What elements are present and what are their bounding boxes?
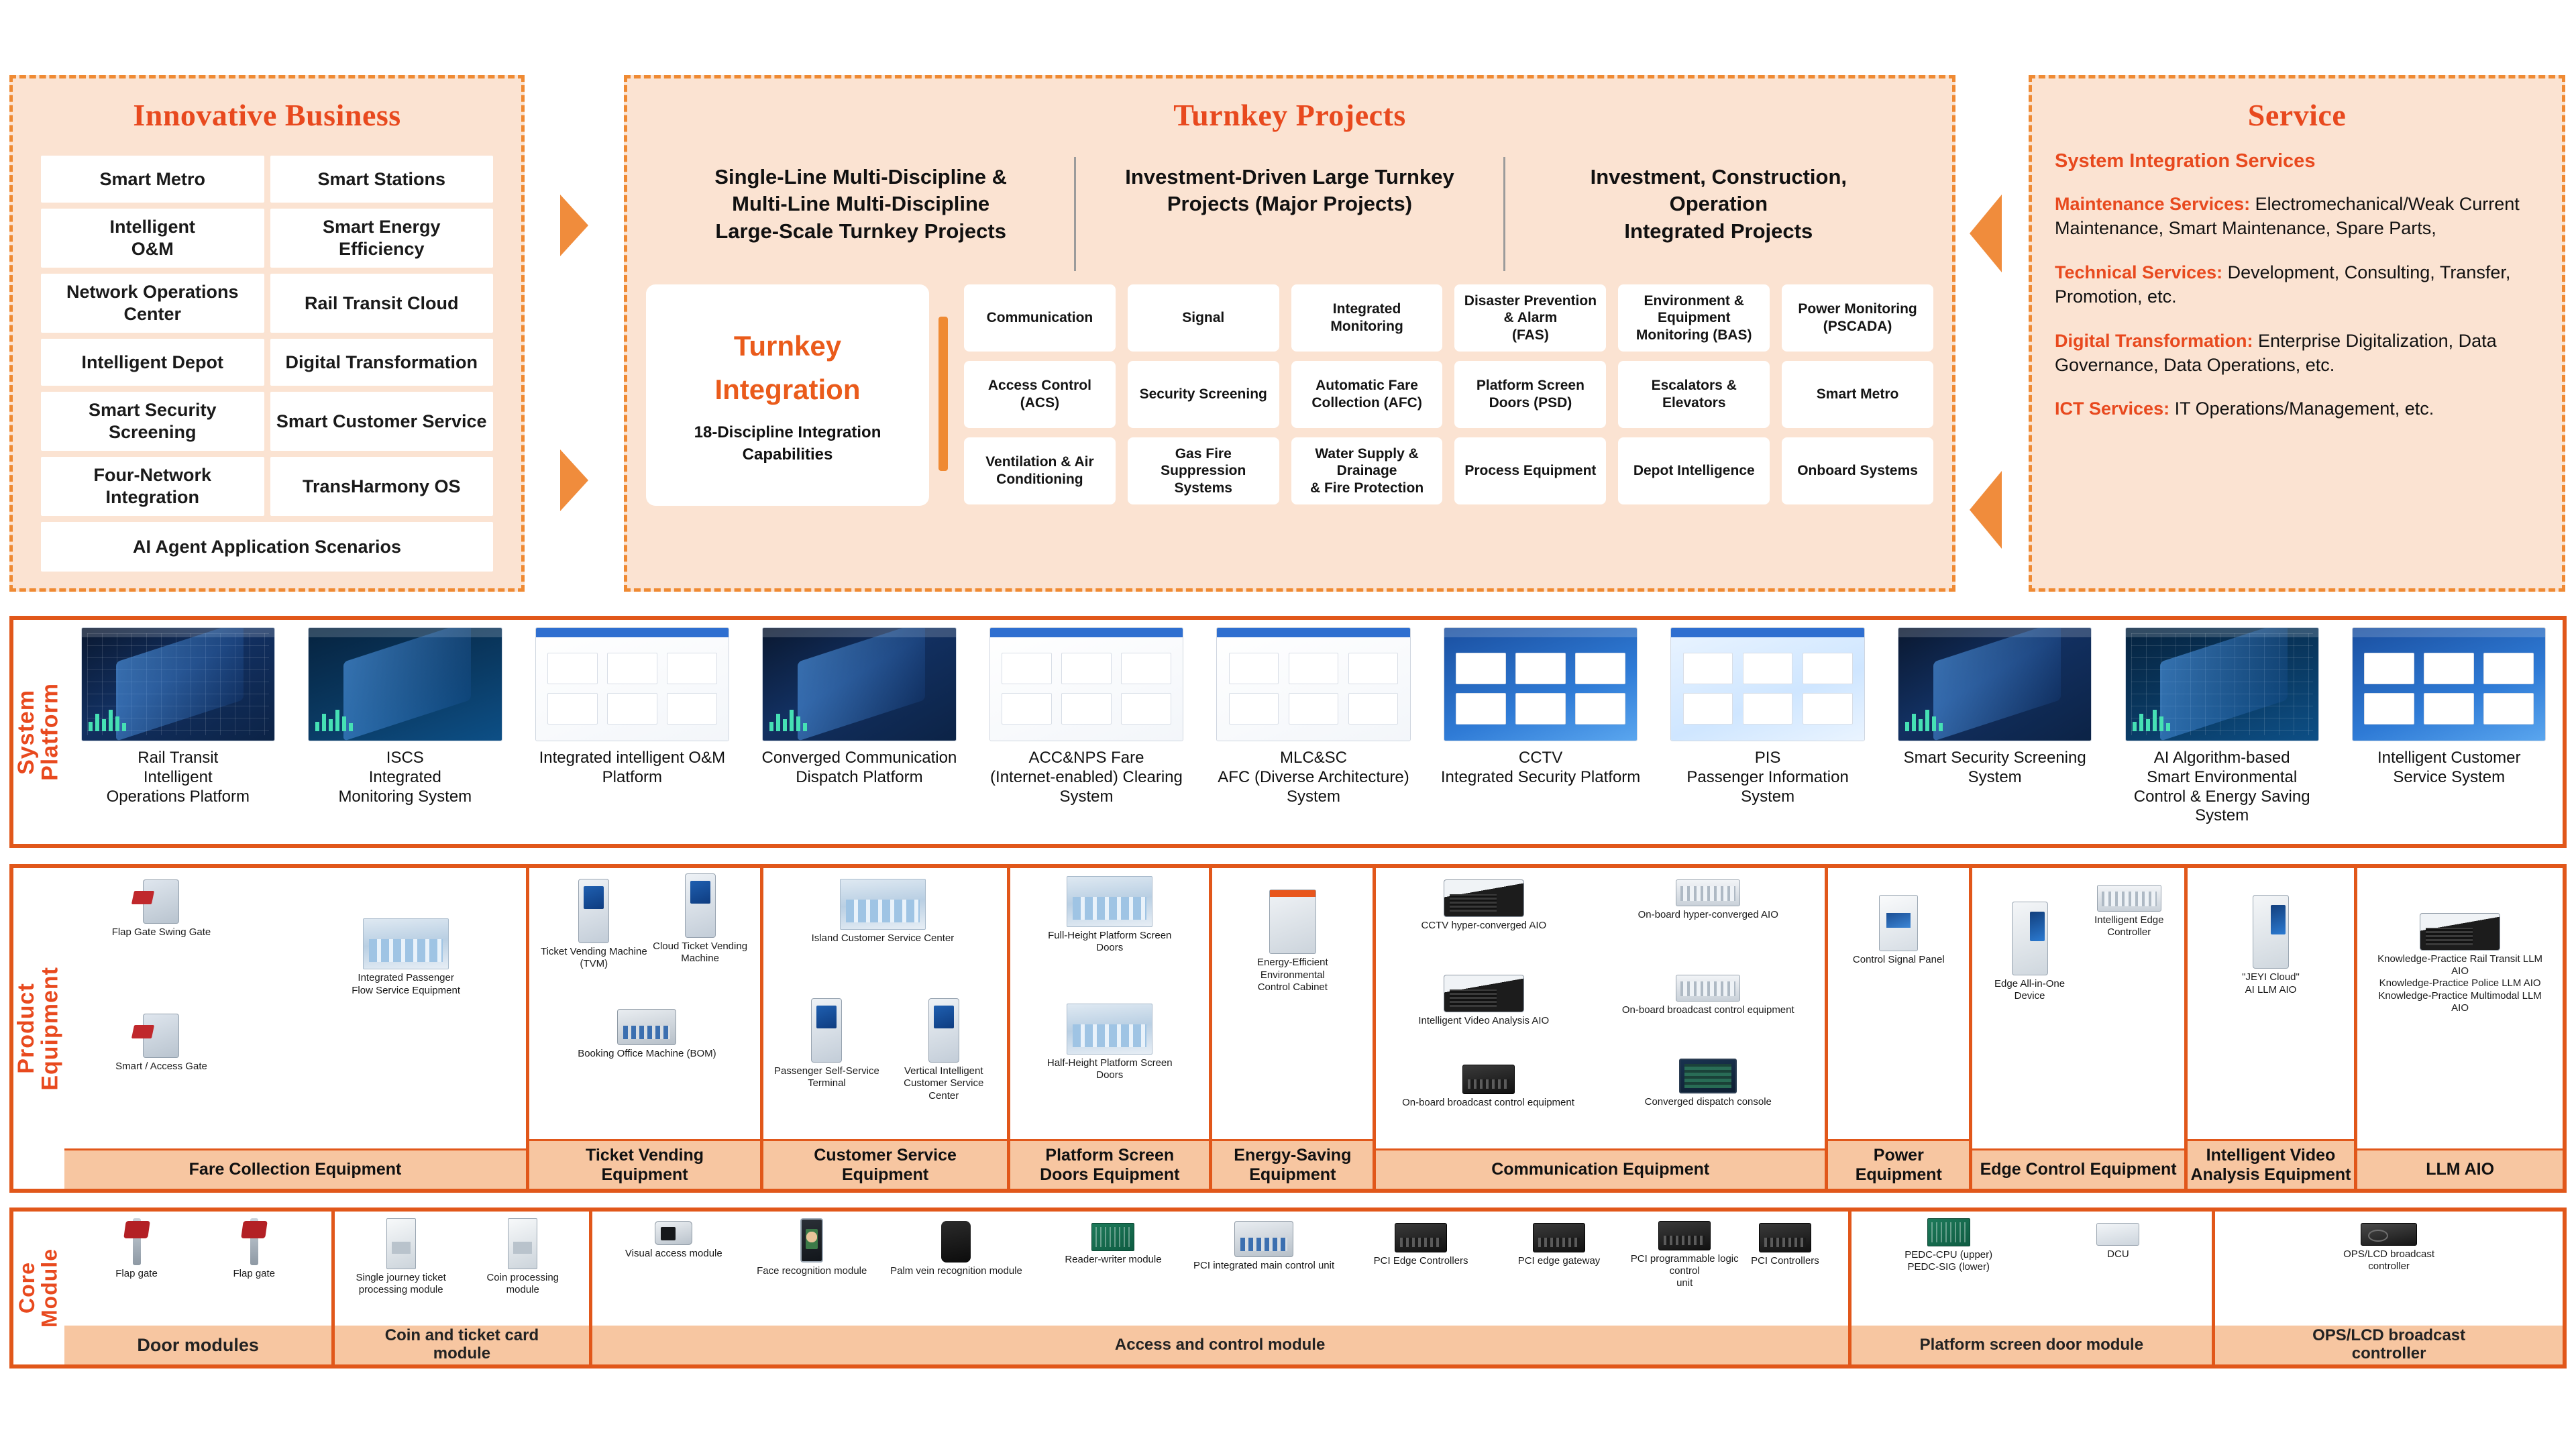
turnkey-body: Turnkey Integration 18-Discipline Integr… bbox=[646, 284, 1933, 506]
product-group-body: Full-Height Platform ScreenDoorsHalf-Hei… bbox=[1010, 868, 1209, 1139]
product-item-0-0[interactable]: Flap Gate Swing Gate bbox=[83, 879, 240, 938]
product-item-5-3[interactable]: On-board broadcast control equipment bbox=[1601, 975, 1816, 1016]
service-item-key: Maintenance Services: bbox=[2055, 194, 2250, 214]
product-item-caption: Energy-Efficient EnvironmentalControl Ca… bbox=[1226, 957, 1360, 994]
product-image bbox=[1676, 975, 1740, 1002]
product-group-footer[interactable]: Fare Collection Equipment bbox=[64, 1148, 526, 1189]
discipline-cell-17[interactable]: Onboard Systems bbox=[1782, 437, 1933, 504]
service-panel: Service System Integration Services Main… bbox=[2029, 75, 2565, 592]
system-platform-caption: MLC&SCAFC (Diverse Architecture)System bbox=[1218, 749, 1409, 806]
core-item-caption: DCU bbox=[2039, 1248, 2198, 1260]
core-item-image bbox=[655, 1221, 692, 1245]
product-item-caption: CCTV hyper-converged AIO bbox=[1394, 920, 1574, 932]
product-group-footer[interactable]: Communication Equipment bbox=[1376, 1148, 1825, 1189]
innovative-item-1[interactable]: Smart Stations bbox=[270, 156, 494, 203]
service-body: System Integration Services Maintenance … bbox=[2032, 133, 2562, 421]
thumbnail-3d-beam bbox=[1933, 628, 2061, 741]
innovative-item-6[interactable]: Intelligent Depot bbox=[41, 339, 264, 386]
discipline-cell-15[interactable]: Process Equipment bbox=[1454, 437, 1606, 504]
thumbnail-card bbox=[1002, 693, 1052, 724]
system-platform-item-1[interactable]: ISCSIntegratedMonitoring System bbox=[292, 620, 519, 844]
product-image bbox=[143, 879, 179, 924]
product-item-3-1[interactable]: Half-Height Platform ScreenDoors bbox=[1030, 1004, 1189, 1082]
platform-thumbnail bbox=[536, 628, 729, 741]
system-platform-items: Rail TransitIntelligentOperations Platfo… bbox=[64, 620, 2563, 844]
thumbnail-card bbox=[2364, 693, 2414, 724]
discipline-cell-4[interactable]: Environment &EquipmentMonitoring (BAS) bbox=[1618, 284, 1770, 352]
product-group-6: Control Signal PanelPowerEquipment bbox=[1825, 868, 1969, 1189]
product-item-caption: Booking Office Machine (BOM) bbox=[566, 1048, 728, 1060]
product-item-6-0[interactable]: Control Signal Panel bbox=[1845, 895, 1952, 966]
core-item-0-1[interactable]: Flap gate bbox=[203, 1218, 305, 1280]
system-platform-item-7[interactable]: PISPassenger InformationSystem bbox=[1654, 620, 1882, 844]
product-group-body: Knowledge-Practice Rail Transit LLM AIOK… bbox=[2357, 868, 2563, 1148]
product-image bbox=[840, 879, 926, 930]
product-group-footer[interactable]: LLM AIO bbox=[2357, 1148, 2563, 1189]
thumbnail-card bbox=[2364, 653, 2414, 684]
system-platform-caption: ACC&NPS Fare(Internet-enabled) ClearingS… bbox=[990, 749, 1183, 806]
core-module-label: CoreModule bbox=[13, 1212, 64, 1364]
product-image bbox=[1676, 879, 1740, 906]
core-item-3-0[interactable]: PEDC-CPU (upper)PEDC-SIG (lower) bbox=[1873, 1218, 2025, 1274]
product-item-caption: On-board hyper-converged AIO bbox=[1609, 909, 1807, 921]
product-group-body: Flap Gate Swing GateSmart / Access GateI… bbox=[64, 868, 526, 1148]
core-item-caption: Coin processingmodule bbox=[467, 1272, 578, 1297]
discipline-cell-16[interactable]: Depot Intelligence bbox=[1618, 437, 1770, 504]
product-image bbox=[811, 998, 842, 1063]
thumbnail-card bbox=[1061, 653, 1112, 684]
platform-thumbnail bbox=[82, 628, 274, 741]
platform-thumbnail bbox=[309, 628, 501, 741]
core-item-image bbox=[1658, 1221, 1711, 1250]
product-item-caption: Full-Height Platform ScreenDoors bbox=[1030, 930, 1189, 955]
thumbnail-header-bar bbox=[536, 628, 729, 637]
core-item-caption: Face recognition module bbox=[743, 1265, 881, 1277]
chevron-right-icon-bottom bbox=[560, 449, 588, 511]
thumbnail-header-bar bbox=[1898, 628, 2091, 637]
product-item-0-2[interactable]: Integrated PassengerFlow Service Equipme… bbox=[305, 918, 508, 997]
turnkey-projects-panel: Turnkey Projects Single-Line Multi-Disci… bbox=[624, 75, 1955, 592]
product-group-footer[interactable]: Platform ScreenDoors Equipment bbox=[1010, 1139, 1209, 1189]
product-group-body: Edge All-in-One DeviceIntelligent Edge C… bbox=[1972, 868, 2184, 1148]
core-module-groups: Flap gateFlap gateDoor modulesSingle jou… bbox=[64, 1212, 2563, 1364]
product-group-footer[interactable]: Energy-SavingEquipment bbox=[1212, 1139, 1373, 1189]
system-platform-item-2[interactable]: Integrated intelligent O&MPlatform bbox=[519, 620, 746, 844]
thumbnail-header-bar bbox=[1217, 628, 1409, 637]
thumbnail-card bbox=[2483, 653, 2534, 684]
thumbnail-card bbox=[667, 693, 717, 724]
thumbnail-card bbox=[1683, 653, 1733, 684]
core-item-image bbox=[1533, 1223, 1585, 1252]
product-group-7: Edge All-in-One DeviceIntelligent Edge C… bbox=[1969, 868, 2184, 1189]
core-item-caption: OPS/LCD broadcastcontroller bbox=[2257, 1248, 2521, 1273]
innovative-business-panel: Innovative Business Smart MetroSmart Sta… bbox=[9, 75, 525, 592]
discipline-cell-11[interactable]: Smart Metro bbox=[1782, 361, 1933, 428]
innovative-item-4[interactable]: Network OperationsCenter bbox=[41, 274, 264, 333]
system-platform-caption: Smart Security ScreeningSystem bbox=[1904, 749, 2086, 788]
turnkey-heading-0: Single-Line Multi-Discipline &Multi-Line… bbox=[647, 157, 1074, 271]
service-title: Service bbox=[2032, 97, 2562, 133]
discipline-cell-12[interactable]: Ventilation & AirConditioning bbox=[964, 437, 1116, 504]
turnkey-integration-subtitle: 18-Discipline IntegrationCapabilities bbox=[694, 421, 881, 466]
thumbnail-card bbox=[1121, 653, 1171, 684]
product-item-1-0[interactable]: Ticket Vending Machine (TVM) bbox=[536, 879, 651, 971]
thumbnail-card bbox=[1456, 693, 1506, 724]
product-item-8-0[interactable]: "JEYI Cloud"AI LLM AIO bbox=[2211, 895, 2331, 996]
product-item-caption: Smart / Access Gate bbox=[83, 1061, 240, 1073]
product-group-footer[interactable]: Ticket VendingEquipment bbox=[529, 1139, 760, 1189]
innovative-item-ai-agent[interactable]: AI Agent Application Scenarios bbox=[41, 522, 493, 572]
service-item-key: ICT Services: bbox=[2055, 398, 2169, 419]
product-item-caption: Vertical IntelligentCustomer ServiceCent… bbox=[885, 1065, 1002, 1102]
service-item-3: ICT Services: IT Operations/Management, … bbox=[2055, 397, 2542, 421]
chevron-left-icon-top bbox=[1970, 195, 2002, 272]
discipline-cell-14[interactable]: Water Supply &Drainage& Fire Protection bbox=[1291, 437, 1443, 504]
core-item-image bbox=[241, 1218, 268, 1265]
thumbnail-header-bar bbox=[990, 628, 1183, 637]
product-image bbox=[1462, 1065, 1515, 1094]
core-item-image bbox=[508, 1218, 537, 1269]
thumbnail-3d-beam bbox=[2160, 628, 2288, 741]
product-image bbox=[2012, 902, 2048, 975]
product-group-footer[interactable]: Intelligent VideoAnalysis Equipment bbox=[2188, 1139, 2354, 1189]
thumbnail-card bbox=[1575, 693, 1625, 724]
thumbnail-card bbox=[1515, 653, 1566, 684]
product-image bbox=[2420, 913, 2500, 951]
product-image bbox=[1444, 975, 1524, 1012]
product-item-5-0[interactable]: CCTV hyper-converged AIO bbox=[1394, 879, 1574, 932]
product-group-1: Ticket Vending Machine (TVM)Cloud Ticket… bbox=[526, 868, 760, 1189]
system-platform-item-8[interactable]: Smart Security ScreeningSystem bbox=[1881, 620, 2108, 844]
thumbnail-bar-chart bbox=[769, 710, 807, 731]
product-group-footer[interactable]: PowerEquipment bbox=[1828, 1139, 1969, 1189]
core-item-caption: Flap gate bbox=[203, 1268, 305, 1280]
discipline-cell-6[interactable]: Access Control(ACS) bbox=[964, 361, 1116, 428]
core-item-2-1[interactable]: Face recognition module bbox=[743, 1218, 881, 1277]
product-item-caption: Cloud Ticket VendingMachine bbox=[645, 941, 755, 965]
product-group-body: Control Signal Panel bbox=[1828, 868, 1969, 1139]
product-item-4-0[interactable]: Energy-Efficient EnvironmentalControl Ca… bbox=[1226, 890, 1360, 994]
core-item-image bbox=[941, 1221, 971, 1263]
core-group-footer[interactable]: Door modules bbox=[64, 1326, 331, 1364]
product-image bbox=[1444, 879, 1524, 917]
product-item-caption: Island Customer Service Center bbox=[793, 932, 973, 945]
core-item-2-8[interactable]: PCI Controllers bbox=[1722, 1223, 1847, 1267]
service-item-0: Maintenance Services: Electromechanical/… bbox=[2055, 193, 2542, 241]
system-platform-item-4[interactable]: ACC&NPS Fare(Internet-enabled) ClearingS… bbox=[973, 620, 1200, 844]
product-group-body: Energy-Efficient EnvironmentalControl Ca… bbox=[1212, 868, 1373, 1139]
product-group-9: Knowledge-Practice Rail Transit LLM AIOK… bbox=[2354, 868, 2563, 1189]
thumbnail-card bbox=[607, 653, 657, 684]
system-platform-item-5[interactable]: MLC&SCAFC (Diverse Architecture)System bbox=[1200, 620, 1428, 844]
core-group-0: Flap gateFlap gateDoor modules bbox=[64, 1212, 331, 1364]
system-platform-band: SystemPlatform Rail TransitIntelligentOp… bbox=[9, 616, 2567, 848]
product-item-caption: "JEYI Cloud"AI LLM AIO bbox=[2211, 971, 2331, 996]
discipline-cell-3[interactable]: Disaster Prevention& Alarm(FAS) bbox=[1454, 284, 1606, 352]
thumbnail-card bbox=[1289, 653, 1339, 684]
system-platform-caption: AI Algorithm-basedSmart EnvironmentalCon… bbox=[2134, 749, 2310, 826]
turnkey-heading-2: Investment, Construction,OperationIntegr… bbox=[1503, 157, 1932, 271]
product-item-5-5[interactable]: Converged dispatch console bbox=[1609, 1059, 1807, 1108]
product-group-body: "JEYI Cloud"AI LLM AIO bbox=[2188, 868, 2354, 1139]
innovative-item-8[interactable]: Smart SecurityScreening bbox=[41, 392, 264, 451]
platform-thumbnail bbox=[1217, 628, 1409, 741]
product-group-footer[interactable]: Edge Control Equipment bbox=[1972, 1148, 2184, 1189]
product-item-caption: Converged dispatch console bbox=[1609, 1096, 1807, 1108]
product-item-2-2[interactable]: Vertical IntelligentCustomer ServiceCent… bbox=[885, 998, 1002, 1102]
system-platform-caption: Converged CommunicationDispatch Platform bbox=[762, 749, 957, 788]
product-item-0-1[interactable]: Smart / Access Gate bbox=[83, 1014, 240, 1073]
core-item-3-1[interactable]: DCU bbox=[2039, 1223, 2198, 1260]
core-group-footer[interactable]: OPS/LCD broadcastcontroller bbox=[2215, 1326, 2563, 1364]
core-item-caption: PCI Edge Controllers bbox=[1346, 1255, 1497, 1267]
product-image bbox=[1067, 876, 1152, 927]
system-platform-item-6[interactable]: CCTVIntegrated Security Platform bbox=[1427, 620, 1654, 844]
core-item-caption: PCI Controllers bbox=[1722, 1255, 1847, 1267]
thumbnail-bar-chart bbox=[89, 710, 126, 731]
thumbnail-card bbox=[1683, 693, 1733, 724]
product-image bbox=[578, 879, 609, 943]
product-image bbox=[617, 1009, 676, 1045]
discipline-cell-1[interactable]: Signal bbox=[1128, 284, 1279, 352]
thumbnail-card bbox=[2483, 693, 2534, 724]
product-item-2-0[interactable]: Island Customer Service Center bbox=[793, 879, 973, 945]
thumbnail-card bbox=[1348, 653, 1399, 684]
product-group-3: Full-Height Platform ScreenDoorsHalf-Hei… bbox=[1007, 868, 1209, 1189]
product-image bbox=[1679, 1059, 1737, 1093]
core-item-image bbox=[800, 1218, 823, 1263]
core-item-caption: Palm vein recognition module bbox=[881, 1265, 1032, 1277]
product-item-5-4[interactable]: On-board broadcast control equipment bbox=[1394, 1065, 1582, 1109]
product-group-4: Energy-Efficient EnvironmentalControl Ca… bbox=[1209, 868, 1373, 1189]
innovative-item-2[interactable]: IntelligentO&M bbox=[41, 209, 264, 268]
discipline-cell-0[interactable]: Communication bbox=[964, 284, 1116, 352]
service-lead: System Integration Services bbox=[2055, 150, 2542, 172]
thumbnail-header-bar bbox=[309, 628, 501, 637]
thumbnail-card bbox=[1002, 653, 1052, 684]
core-item-2-5[interactable]: PCI Edge Controllers bbox=[1346, 1223, 1497, 1267]
service-item-text: IT Operations/Management, etc. bbox=[2169, 398, 2434, 419]
core-item-2-4[interactable]: PCI integrated main control unit bbox=[1182, 1221, 1345, 1272]
thumbnail-card bbox=[1575, 653, 1625, 684]
service-item-1: Technical Services: Development, Consult… bbox=[2055, 261, 2542, 309]
product-item-1-1[interactable]: Cloud Ticket VendingMachine bbox=[645, 873, 755, 965]
top-row: Innovative Business Smart MetroSmart Sta… bbox=[0, 0, 2576, 607]
product-group-0: Flap Gate Swing GateSmart / Access GateI… bbox=[64, 868, 526, 1189]
integration-connector-bar bbox=[938, 317, 948, 471]
discipline-cell-10[interactable]: Escalators &Elevators bbox=[1618, 361, 1770, 428]
discipline-cell-9[interactable]: Platform ScreenDoors (PSD) bbox=[1454, 361, 1606, 428]
core-item-2-0[interactable]: Visual access module bbox=[604, 1221, 743, 1260]
thumbnail-card bbox=[1121, 693, 1171, 724]
platform-thumbnail bbox=[1671, 628, 1864, 741]
core-item-1-1[interactable]: Coin processingmodule bbox=[467, 1218, 578, 1297]
system-platform-caption: Integrated intelligent O&MPlatform bbox=[539, 749, 726, 788]
core-group-1: Single journey ticketprocessing moduleCo… bbox=[331, 1212, 588, 1364]
core-item-2-6[interactable]: PCI edge gateway bbox=[1484, 1223, 1635, 1267]
product-item-caption: Ticket Vending Machine (TVM) bbox=[536, 946, 651, 971]
turnkey-headings: Single-Line Multi-Discipline &Multi-Line… bbox=[647, 157, 1932, 271]
core-item-image bbox=[123, 1218, 150, 1265]
product-item-1-2[interactable]: Booking Office Machine (BOM) bbox=[566, 1009, 728, 1060]
innovative-item-3[interactable]: Smart EnergyEfficiency bbox=[270, 209, 494, 268]
discipline-cell-7[interactable]: Security Screening bbox=[1128, 361, 1279, 428]
system-platform-caption: PISPassenger InformationSystem bbox=[1686, 749, 1848, 806]
core-item-image bbox=[1759, 1223, 1811, 1252]
core-item-image bbox=[1234, 1221, 1293, 1257]
thumbnail-card bbox=[1289, 693, 1339, 724]
core-group-2: Visual access moduleFace recognition mod… bbox=[589, 1212, 1848, 1364]
product-item-caption: Intelligent Video Analysis AIO bbox=[1394, 1015, 1574, 1027]
product-item-caption: On-board broadcast control equipment bbox=[1601, 1004, 1816, 1016]
chevron-left-icon-bottom bbox=[1970, 471, 2002, 549]
thumbnail-card bbox=[667, 653, 717, 684]
core-item-image bbox=[386, 1218, 416, 1269]
discipline-cell-5[interactable]: Power Monitoring(PSCADA) bbox=[1782, 284, 1933, 352]
product-item-caption: Half-Height Platform ScreenDoors bbox=[1030, 1057, 1189, 1082]
core-item-2-3[interactable]: Reader-writer module bbox=[1044, 1223, 1183, 1266]
thumbnail-3d-beam bbox=[116, 628, 244, 741]
thumbnail-header-bar bbox=[82, 628, 274, 637]
core-item-image bbox=[2361, 1223, 2417, 1246]
thumbnail-card bbox=[1229, 693, 1279, 724]
core-item-caption: PCI edge gateway bbox=[1484, 1255, 1635, 1267]
thumbnail-header-bar bbox=[763, 628, 955, 637]
thumbnail-card bbox=[1743, 693, 1793, 724]
thumbnail-card bbox=[607, 693, 657, 724]
thumbnail-card bbox=[1229, 653, 1279, 684]
innovative-item-9[interactable]: Smart Customer Service bbox=[270, 392, 494, 451]
system-platform-caption: ISCSIntegratedMonitoring System bbox=[338, 749, 472, 806]
service-item-key: Digital Transformation: bbox=[2055, 331, 2253, 351]
system-platform-item-3[interactable]: Converged CommunicationDispatch Platform bbox=[746, 620, 973, 844]
thumbnail-card bbox=[1061, 693, 1112, 724]
core-item-image bbox=[1927, 1218, 1970, 1246]
core-group-body: Visual access moduleFace recognition mod… bbox=[592, 1212, 1848, 1326]
product-equipment-groups: Flap Gate Swing GateSmart / Access GateI… bbox=[64, 868, 2563, 1189]
core-group-4: OPS/LCD broadcastcontrollerOPS/LCD broad… bbox=[2212, 1212, 2563, 1364]
core-item-0-0[interactable]: Flap gate bbox=[86, 1218, 187, 1280]
innovative-item-10[interactable]: Four-NetworkIntegration bbox=[41, 457, 264, 516]
turnkey-heading-1: Investment-Driven Large TurnkeyProjects … bbox=[1074, 157, 1503, 271]
service-item-2: Digital Transformation: Enterprise Digit… bbox=[2055, 329, 2542, 378]
product-item-3-0[interactable]: Full-Height Platform ScreenDoors bbox=[1030, 876, 1189, 955]
core-item-2-2[interactable]: Palm vein recognition module bbox=[881, 1221, 1032, 1277]
thumbnail-header-bar bbox=[2126, 628, 2318, 637]
product-group-8: "JEYI Cloud"AI LLM AIOIntelligent VideoA… bbox=[2184, 868, 2354, 1189]
turnkey-projects-title: Turnkey Projects bbox=[627, 97, 1952, 133]
core-group-footer[interactable]: Coin and ticket cardmodule bbox=[335, 1326, 588, 1364]
product-item-caption: Passenger Self-ServiceTerminal bbox=[768, 1065, 885, 1090]
core-group-body: PEDC-CPU (upper)PEDC-SIG (lower)DCU bbox=[1851, 1212, 2212, 1326]
product-item-5-1[interactable]: On-board hyper-converged AIO bbox=[1609, 879, 1807, 921]
thumbnail-card bbox=[1803, 653, 1853, 684]
core-item-caption: PCI integrated main control unit bbox=[1182, 1260, 1345, 1272]
system-platform-item-0[interactable]: Rail TransitIntelligentOperations Platfo… bbox=[64, 620, 292, 844]
product-item-7-1[interactable]: Intelligent Edge Controller bbox=[2078, 885, 2180, 939]
thumbnail-3d-beam bbox=[343, 628, 471, 741]
platform-thumbnail bbox=[763, 628, 955, 741]
thumbnail-card bbox=[1515, 693, 1566, 724]
platform-thumbnail bbox=[1444, 628, 1637, 741]
discipline-cell-13[interactable]: Gas Fire SuppressionSystems bbox=[1128, 437, 1279, 504]
core-group-3: PEDC-CPU (upper)PEDC-SIG (lower)DCUPlatf… bbox=[1848, 1212, 2212, 1364]
core-item-caption: Flap gate bbox=[86, 1268, 187, 1280]
core-group-body: Single journey ticketprocessing moduleCo… bbox=[335, 1212, 588, 1326]
innovative-business-grid: Smart MetroSmart StationsIntelligentO&MS… bbox=[41, 156, 493, 572]
product-group-body: CCTV hyper-converged AIOOn-board hyper-c… bbox=[1376, 868, 1825, 1148]
system-platform-label: SystemPlatform bbox=[13, 620, 64, 844]
thumbnail-header-bar bbox=[2353, 628, 2545, 637]
product-item-9-0[interactable]: Knowledge-Practice Rail Transit LLM AIOK… bbox=[2374, 913, 2546, 1014]
thumbnail-bar-chart bbox=[1905, 710, 1943, 731]
core-group-footer[interactable]: Access and control module bbox=[592, 1326, 1848, 1364]
service-items: Maintenance Services: Electromechanical/… bbox=[2055, 193, 2542, 421]
product-equipment-band: ProductEquipment Flap Gate Swing GateSma… bbox=[9, 864, 2567, 1193]
platform-thumbnail bbox=[2126, 628, 2318, 741]
product-group-2: Island Customer Service CenterPassenger … bbox=[760, 868, 1007, 1189]
platform-thumbnail bbox=[1898, 628, 2091, 741]
core-item-caption: Visual access module bbox=[604, 1248, 743, 1260]
system-platform-caption: Intelligent CustomerService System bbox=[2377, 749, 2520, 788]
product-item-caption: On-board broadcast control equipment bbox=[1394, 1097, 1582, 1109]
product-image bbox=[1269, 890, 1316, 954]
product-item-caption: Flap Gate Swing Gate bbox=[83, 926, 240, 938]
thumbnail-card bbox=[547, 653, 598, 684]
product-group-5: CCTV hyper-converged AIOOn-board hyper-c… bbox=[1373, 868, 1825, 1189]
product-image bbox=[143, 1014, 179, 1058]
thumbnail-card bbox=[1348, 693, 1399, 724]
thumbnail-header-bar bbox=[1671, 628, 1864, 637]
chevron-right-icon-top bbox=[560, 195, 588, 256]
product-item-caption: Intelligent Edge Controller bbox=[2078, 914, 2180, 939]
product-item-caption: Integrated PassengerFlow Service Equipme… bbox=[305, 972, 508, 997]
core-item-image bbox=[1091, 1223, 1134, 1251]
core-group-footer[interactable]: Platform screen door module bbox=[1851, 1326, 2212, 1364]
service-item-key: Technical Services: bbox=[2055, 262, 2222, 282]
core-item-1-0[interactable]: Single journey ticketprocessing module bbox=[345, 1218, 456, 1297]
thumbnail-card bbox=[1456, 653, 1506, 684]
thumbnail-3d-beam bbox=[798, 628, 925, 741]
innovative-item-0[interactable]: Smart Metro bbox=[41, 156, 264, 203]
thumbnail-header-bar bbox=[1444, 628, 1637, 637]
discipline-grid: CommunicationSignalIntegratedMonitoringD… bbox=[964, 284, 1933, 506]
core-item-4-0[interactable]: OPS/LCD broadcastcontroller bbox=[2257, 1223, 2521, 1273]
product-item-5-2[interactable]: Intelligent Video Analysis AIO bbox=[1394, 975, 1574, 1027]
discipline-cell-2[interactable]: IntegratedMonitoring bbox=[1291, 284, 1443, 352]
product-image bbox=[2253, 895, 2289, 969]
turnkey-integration-box: Turnkey Integration 18-Discipline Integr… bbox=[646, 284, 929, 506]
platform-thumbnail bbox=[2353, 628, 2545, 741]
system-platform-item-10[interactable]: Intelligent CustomerService System bbox=[2335, 620, 2563, 844]
product-item-2-1[interactable]: Passenger Self-ServiceTerminal bbox=[768, 998, 885, 1090]
product-item-caption: Edge All-in-One Device bbox=[1981, 978, 2078, 1003]
core-item-caption: Reader-writer module bbox=[1044, 1254, 1183, 1266]
product-item-7-0[interactable]: Edge All-in-One Device bbox=[1981, 902, 2078, 1003]
thumbnail-card bbox=[2424, 693, 2474, 724]
thumbnail-card bbox=[2424, 653, 2474, 684]
system-platform-item-9[interactable]: AI Algorithm-basedSmart EnvironmentalCon… bbox=[2108, 620, 2336, 844]
system-platform-caption: Rail TransitIntelligentOperations Platfo… bbox=[107, 749, 250, 806]
product-group-footer[interactable]: Customer ServiceEquipment bbox=[763, 1139, 1007, 1189]
innovative-item-11[interactable]: TransHarmony OS bbox=[270, 457, 494, 516]
innovative-item-7[interactable]: Digital Transformation bbox=[270, 339, 494, 386]
core-item-image bbox=[2096, 1223, 2139, 1246]
system-platform-caption: CCTVIntegrated Security Platform bbox=[1441, 749, 1640, 788]
discipline-cell-8[interactable]: Automatic FareCollection (AFC) bbox=[1291, 361, 1443, 428]
product-image bbox=[1879, 895, 1918, 951]
innovative-item-5[interactable]: Rail Transit Cloud bbox=[270, 274, 494, 333]
